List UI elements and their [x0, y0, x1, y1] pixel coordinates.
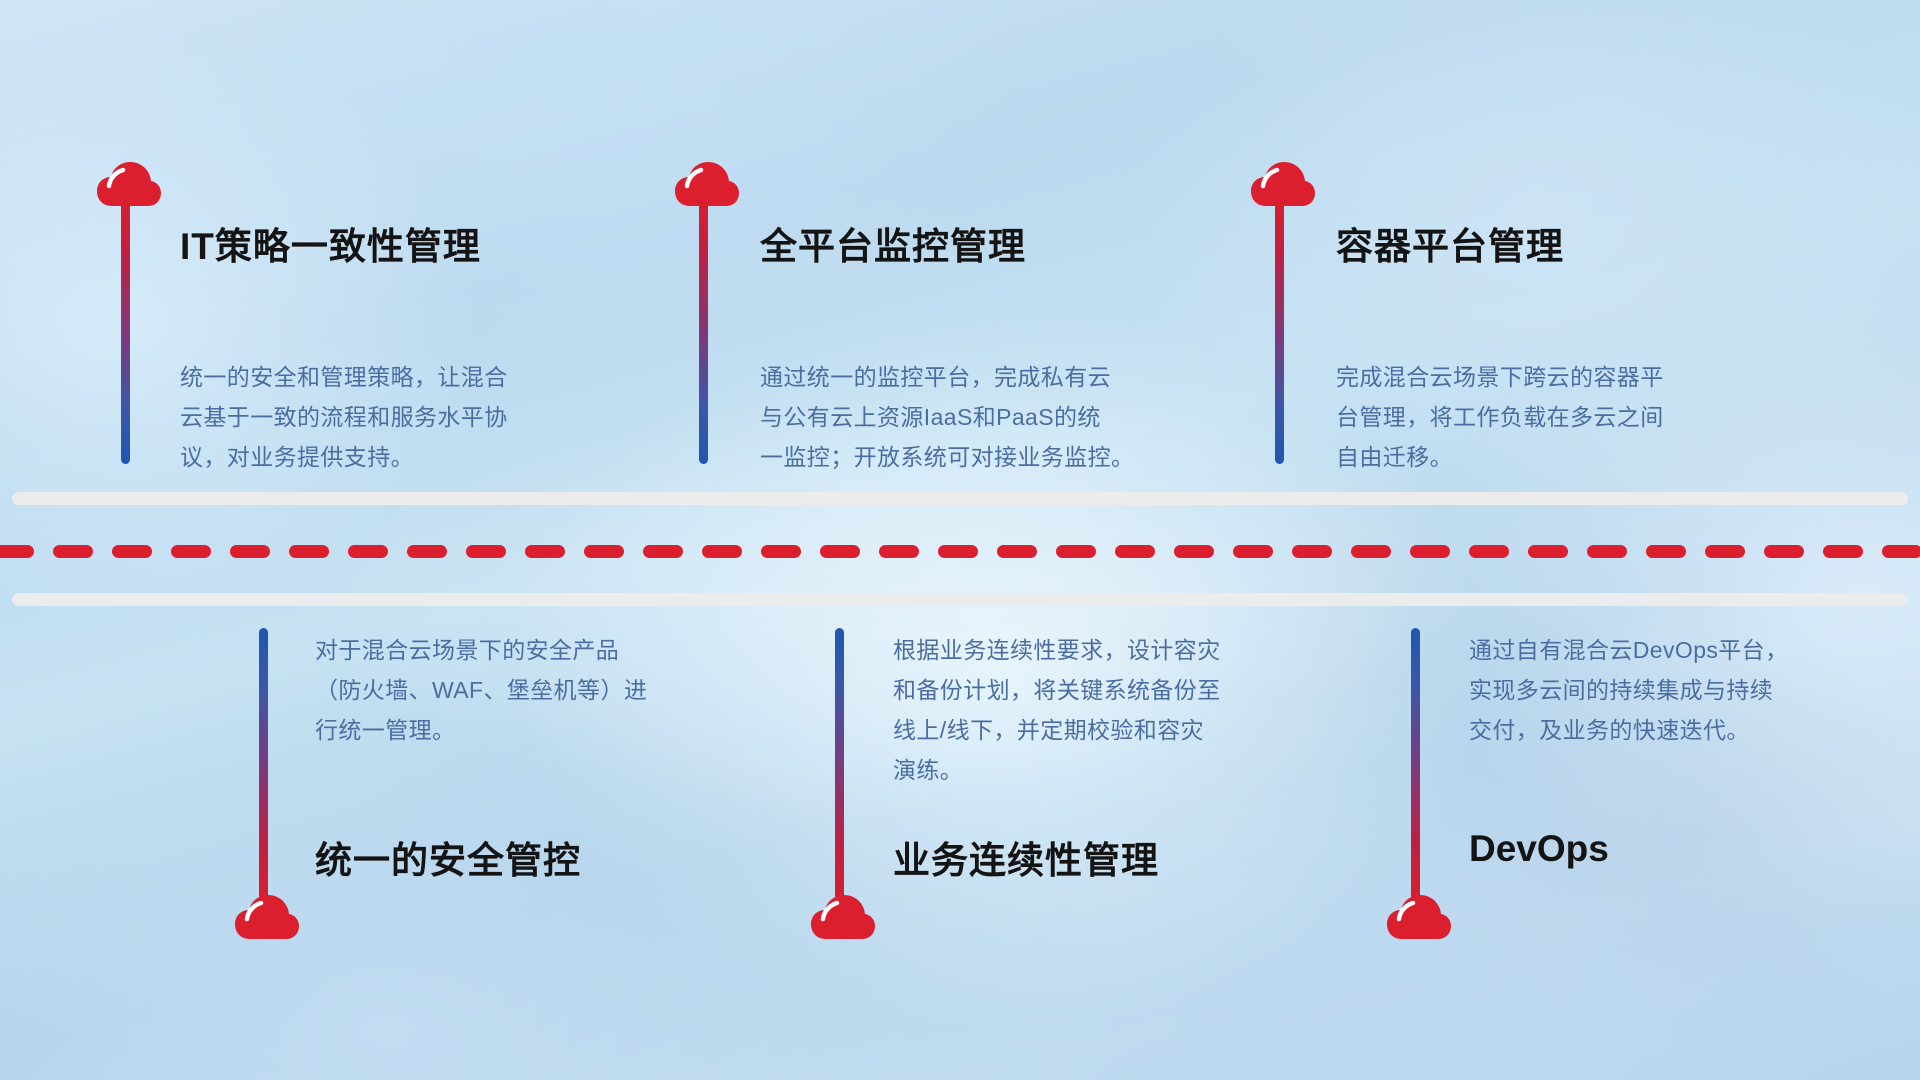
- dash-segment: [1882, 545, 1920, 558]
- card-body: 完成混合云场景下跨云的容器平 台管理，将工作负载在多云之间 自由迁移。: [1336, 357, 1786, 477]
- dash-segment: [997, 545, 1037, 558]
- dash-segment: [1410, 545, 1450, 558]
- card-title: IT策略一致性管理: [180, 216, 481, 270]
- card-body: 通过统一的监控平台，完成私有云 与公有云上资源IaaS和PaaS的统 一监控；开…: [760, 357, 1220, 477]
- dash-segment: [938, 545, 978, 558]
- connector-stem: [1275, 200, 1284, 464]
- dash-segment: [1056, 545, 1096, 558]
- dash-segment: [1528, 545, 1568, 558]
- dash-segment: [466, 545, 506, 558]
- dash-segment: [1469, 545, 1509, 558]
- connector-stem: [699, 200, 708, 464]
- card-title: DevOps: [1469, 828, 1609, 870]
- dash-segment: [1115, 545, 1155, 558]
- dash-segment: [820, 545, 860, 558]
- dash-segment: [879, 545, 919, 558]
- cloud-icon: [810, 893, 876, 941]
- cloud-icon: [234, 893, 300, 941]
- dash-segment: [702, 545, 742, 558]
- red-dashed-centerline: [0, 545, 1920, 558]
- card-title: 容器平台管理: [1336, 216, 1564, 270]
- dash-segment: [1587, 545, 1627, 558]
- upper-rail: [12, 492, 1908, 505]
- connector-stem: [835, 628, 844, 900]
- card-body: 通过自有混合云DevOps平台， 实现多云间的持续集成与持续 交付，及业务的快速…: [1469, 630, 1899, 750]
- infographic-canvas: IT策略一致性管理 统一的安全和管理策略，让混合 云基于一致的流程和服务水平协 …: [0, 0, 1920, 1080]
- dash-segment: [1646, 545, 1686, 558]
- dash-segment: [112, 545, 152, 558]
- dash-segment: [1764, 545, 1804, 558]
- lower-rail: [12, 593, 1908, 606]
- dash-segment: [1233, 545, 1273, 558]
- dash-segment: [289, 545, 329, 558]
- dash-segment: [1292, 545, 1332, 558]
- connector-stem: [259, 628, 268, 900]
- dash-segment: [1823, 545, 1863, 558]
- card-body: 对于混合云场景下的安全产品 （防火墙、WAF、堡垒机等）进 行统一管理。: [315, 630, 745, 750]
- card-body: 统一的安全和管理策略，让混合 云基于一致的流程和服务水平协 议，对业务提供支持。: [180, 357, 610, 477]
- dash-segment: [643, 545, 683, 558]
- dash-segment: [1351, 545, 1391, 558]
- dash-segment: [1705, 545, 1745, 558]
- dash-segment: [1174, 545, 1214, 558]
- card-title: 全平台监控管理: [760, 216, 1026, 270]
- connector-stem: [1411, 628, 1420, 900]
- card-body: 根据业务连续性要求，设计容灾 和备份计划，将关键系统备份至 线上/线下，并定期校…: [893, 630, 1333, 790]
- dash-segment: [525, 545, 565, 558]
- card-title: 业务连续性管理: [893, 830, 1159, 884]
- dash-segment: [0, 545, 34, 558]
- dash-segment: [761, 545, 801, 558]
- dash-segment: [230, 545, 270, 558]
- dash-segment: [53, 545, 93, 558]
- dash-segment: [171, 545, 211, 558]
- card-title: 统一的安全管控: [315, 830, 581, 884]
- dash-segment: [348, 545, 388, 558]
- dash-segment: [407, 545, 447, 558]
- dash-segment: [584, 545, 624, 558]
- cloud-icon: [1386, 893, 1452, 941]
- connector-stem: [121, 200, 130, 464]
